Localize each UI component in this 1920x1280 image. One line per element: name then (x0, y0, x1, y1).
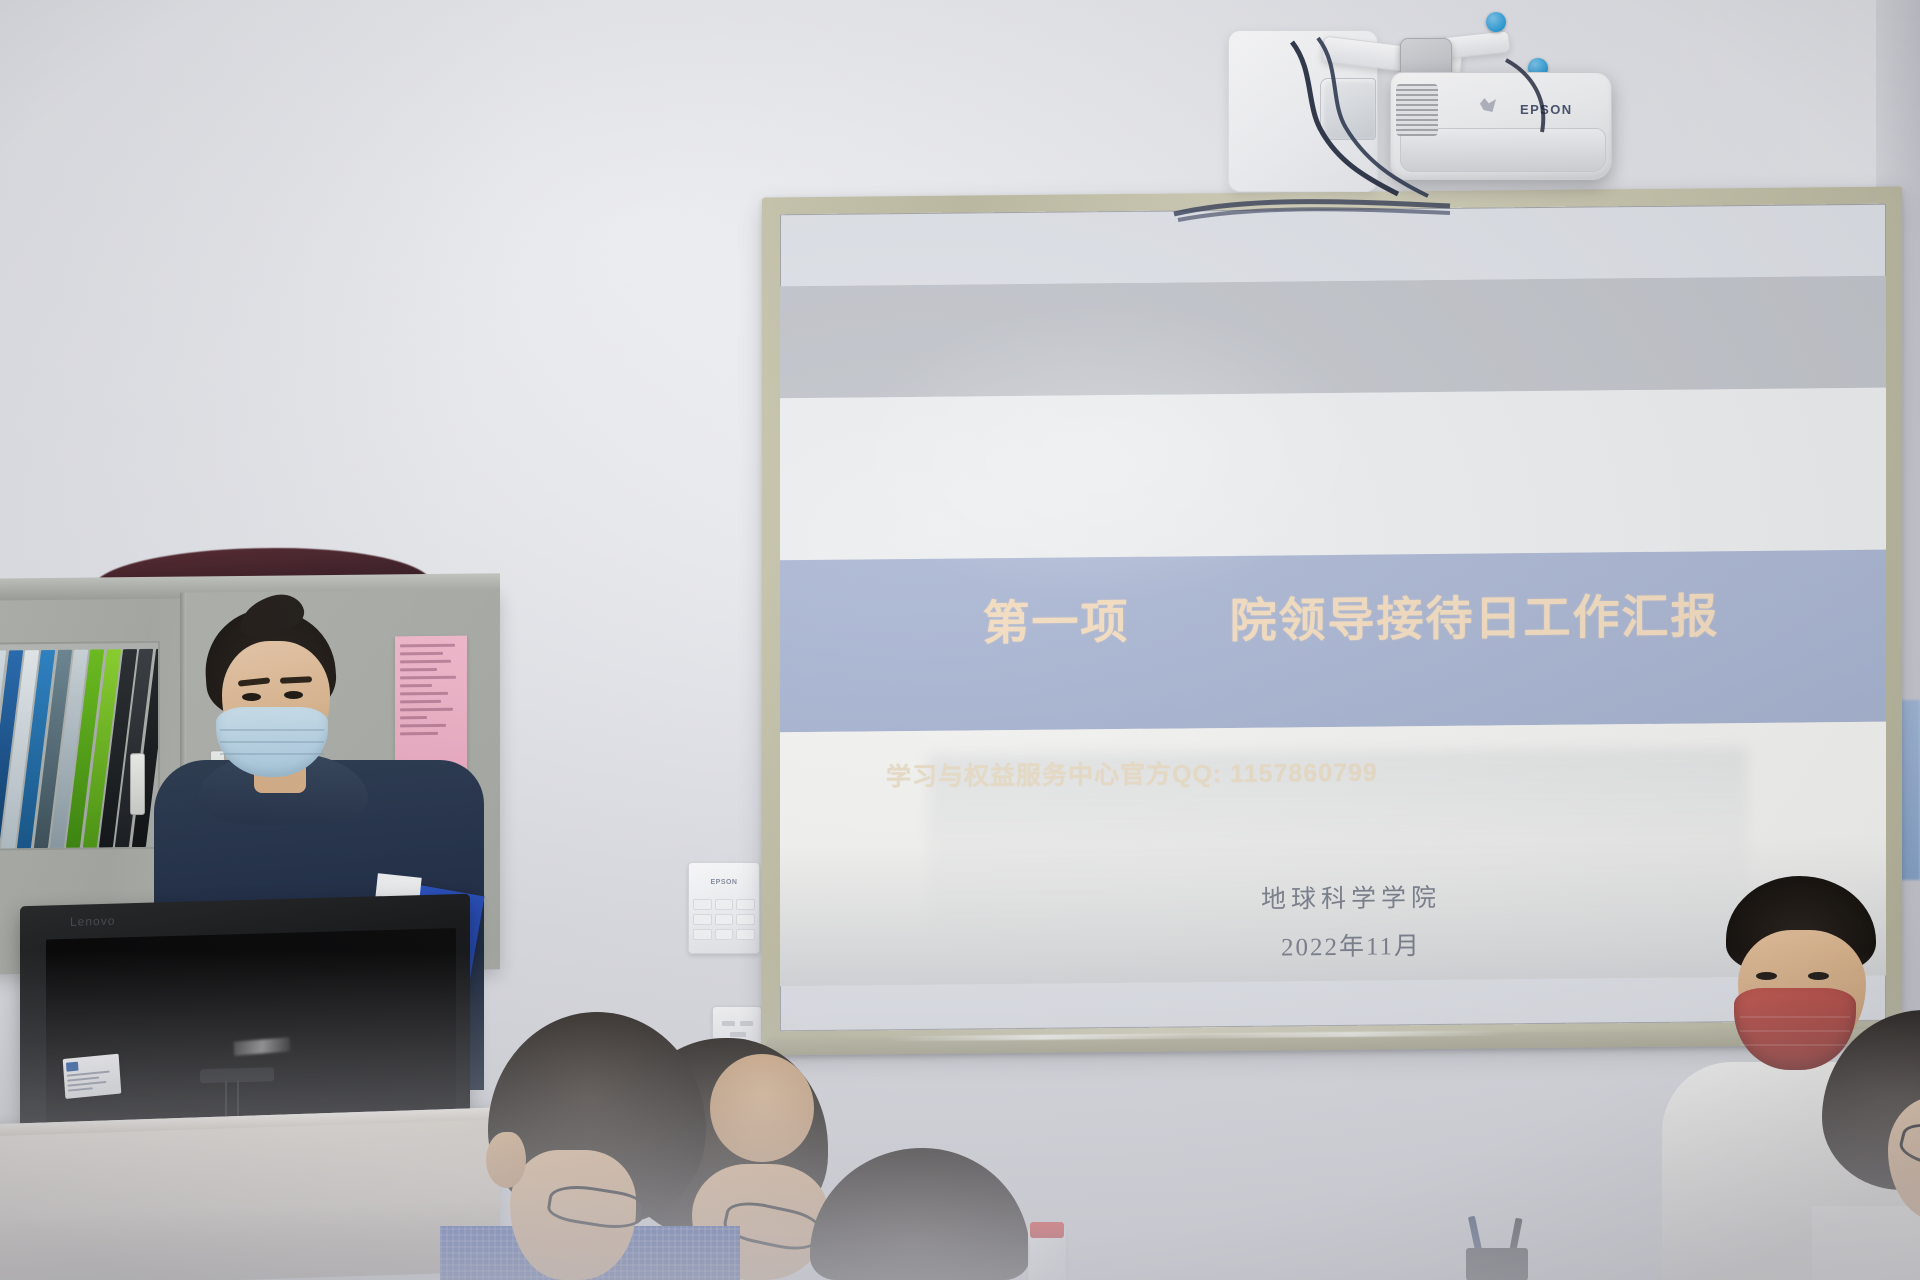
control-panel-button[interactable] (736, 929, 755, 940)
slide-qq-line: 学习与权益服务中心官方QQ: 1157860799 (886, 753, 1378, 794)
cable-run-under-board (1172, 196, 1452, 222)
control-panel-button[interactable] (693, 914, 712, 925)
control-panel-row[interactable] (693, 899, 755, 910)
projector-lens-housing (1320, 78, 1376, 140)
projector-wall-control-panel[interactable]: EPSON (688, 862, 760, 954)
cabinet-handle[interactable] (130, 753, 145, 815)
slide-band-top-gray (780, 275, 1886, 398)
projector-brand-label: EPSON (1520, 102, 1573, 117)
presenter-eye (284, 691, 303, 699)
slide-title-spacer (1145, 637, 1215, 638)
projector-vent-grille (1396, 84, 1438, 136)
control-panel-row[interactable] (693, 914, 755, 925)
control-panel-button-grid[interactable] (693, 899, 755, 944)
control-panel-button[interactable] (715, 899, 734, 910)
control-panel-button[interactable] (736, 914, 755, 925)
control-panel-brand-label: EPSON (689, 879, 759, 886)
monitor-brand-label: Lenovo (70, 914, 115, 929)
slide-title: 第一项 院领导接待日工作汇报 (780, 575, 1886, 655)
control-panel-row[interactable] (693, 929, 755, 940)
slide-title-section: 第一项 (982, 595, 1129, 649)
control-panel-button[interactable] (693, 929, 712, 940)
control-panel-button[interactable] (693, 899, 712, 910)
projector-adjust-knob-icon[interactable] (1486, 12, 1506, 32)
control-panel-button[interactable] (736, 899, 755, 910)
photo-scene: EPSON (0, 0, 1920, 1280)
foreground-shadow (0, 950, 1920, 1280)
cabinet-glass-door[interactable] (0, 641, 160, 851)
slide-band-white (780, 387, 1886, 560)
presenter-eye (242, 693, 261, 701)
slide-title-main: 院领导接待日工作汇报 (1230, 589, 1720, 647)
control-panel-button[interactable] (715, 914, 734, 925)
book-row (0, 643, 158, 849)
control-panel-button[interactable] (715, 929, 734, 940)
